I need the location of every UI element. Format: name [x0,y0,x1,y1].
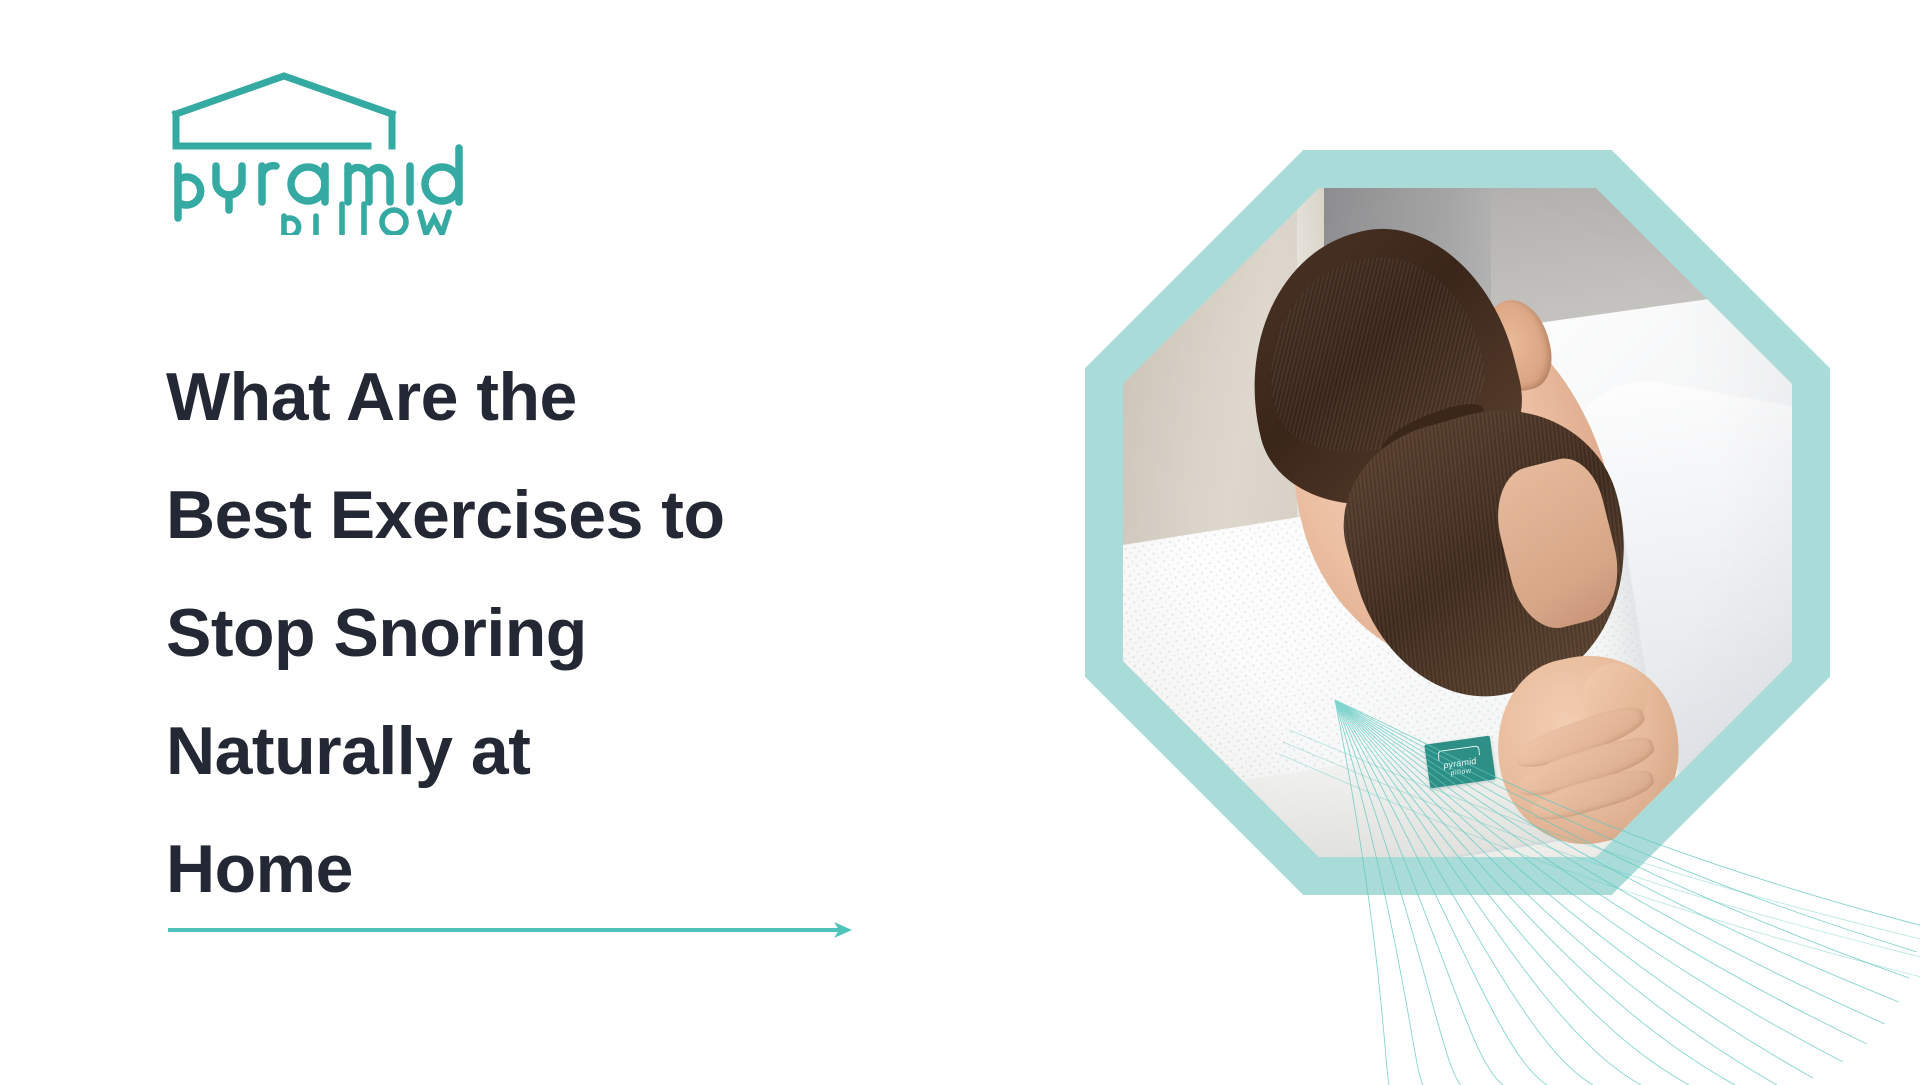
headline-line-2: Best Exercises to [166,456,906,574]
headline-line-5: Home [166,810,906,928]
arrow-rule-divider [166,915,866,945]
hero-banner: What Are the Best Exercises to Stop Snor… [0,0,1920,1080]
sleeping-man-photo: pyramid pillow [1123,188,1792,857]
headline-line-1: What Are the [166,338,906,456]
left-content-column: What Are the Best Exercises to Stop Snor… [0,0,980,1080]
arrow-right-icon [166,915,866,945]
page-title: What Are the Best Exercises to Stop Snor… [166,338,906,928]
headline-line-3: Stop Snoring [166,574,906,692]
headline-line-4: Naturally at [166,692,906,810]
logo-wordmark-pyramid [178,148,459,218]
sleeping-man-head [1230,221,1645,703]
pillow-brand-tag: pyramid pillow [1425,736,1496,789]
pyramid-pillow-logo[interactable] [166,70,466,235]
logo-wordmark-pillow [284,204,449,235]
octagon-photo-clip: pyramid pillow [1123,188,1792,857]
logo-svg [166,70,466,235]
pyramid-roof-icon [176,76,392,146]
hero-photo-octagon: pyramid pillow [1085,150,1830,895]
